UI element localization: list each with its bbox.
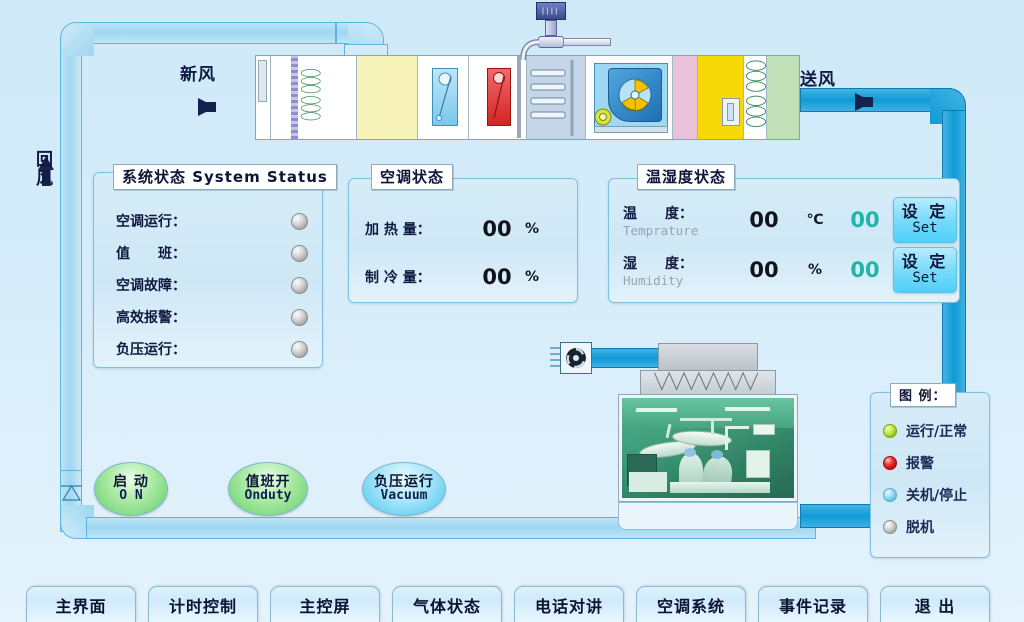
tab-3[interactable]: 主控屏	[270, 586, 380, 622]
control-valve-actuator[interactable]	[536, 2, 566, 20]
control-oval-label-cn: 启 动	[113, 475, 149, 490]
fresh-air-label: 新风	[180, 60, 216, 85]
supply-air-text: 送风	[800, 65, 836, 90]
temp-humidity-row: 温 度：Temprature00℃00设 定Set	[623, 195, 959, 245]
system-status-row: 空调故障：	[116, 269, 308, 301]
measured-value: 00	[735, 258, 793, 282]
system-status-row: 负压运行：	[116, 333, 308, 365]
heating-gauge-icon	[487, 68, 511, 126]
temp-humidity-sublabel: Humidity	[623, 273, 735, 288]
fan-inlet-vanes-icon	[548, 343, 562, 373]
ahu-inlet-damper	[256, 56, 271, 139]
valve-pipe-right	[563, 38, 611, 46]
bottom-tab-bar: 主界面计时控制主控屏气体状态电话对讲空调系统事件记录退 出	[0, 586, 1024, 622]
status-lamp	[291, 213, 308, 230]
tab-label: 退 出	[915, 593, 956, 617]
tab-5[interactable]: 电话对讲	[514, 586, 624, 622]
hepa-pleats-icon	[641, 371, 775, 395]
actuator-fins-icon	[537, 3, 565, 19]
ahu-humidifier	[527, 56, 586, 139]
tab-label: 电话对讲	[535, 593, 603, 617]
or-room-frame	[618, 394, 798, 502]
legend-label: 脱机	[906, 517, 934, 537]
hvac-status-row: 制 冷 量：00%	[365, 253, 577, 301]
or-camera-image	[622, 398, 794, 498]
tab-4[interactable]: 气体状态	[392, 586, 502, 622]
set-button-label-en: Set	[912, 271, 937, 286]
system-status-panel: 空调运行：值 班：空调故障：高效报警：负压运行：	[93, 172, 323, 368]
control-oval-label-en: O N	[119, 489, 142, 503]
return-duct-left-upper	[60, 40, 82, 480]
valve-body	[538, 36, 564, 48]
legend-panel: 运行/正常报警关机/停止脱机	[870, 392, 990, 558]
air-handling-unit	[255, 55, 800, 140]
hvac-status-unit: %	[525, 269, 539, 285]
legend-title: 图 例：	[890, 383, 956, 407]
legend-lamp	[883, 424, 897, 438]
legend-item: 报警	[883, 447, 989, 479]
legend-lamp	[883, 456, 897, 470]
ahu-pink-section	[673, 56, 698, 139]
ahu-cooling-coil	[418, 56, 469, 139]
ahu-yellow-section	[698, 56, 744, 139]
ahu-coil-section	[744, 56, 767, 139]
control-oval-label-cn: 负压运行	[374, 475, 434, 490]
hvac-status-unit: %	[525, 221, 539, 237]
system-status-label: 负压运行：	[116, 339, 291, 359]
temp-humidity-label: 温 度：	[623, 203, 735, 223]
control-oval-button[interactable]: 负压运行Vacuum	[362, 462, 446, 516]
measured-unit: ℃	[793, 212, 837, 228]
tab-label: 气体状态	[413, 593, 481, 617]
system-status-title: 系统状态 System Status	[113, 164, 337, 190]
return-damper-icon	[61, 478, 82, 502]
coil-spring-icon	[299, 58, 343, 138]
temp-humidity-label: 湿 度：	[623, 253, 735, 273]
status-lamp	[291, 309, 308, 326]
return-duct-corner-tl	[60, 22, 94, 56]
humidifier-pipes-icon	[527, 56, 589, 140]
legend-item: 脱机	[883, 511, 989, 543]
tab-2[interactable]: 计时控制	[148, 586, 258, 622]
fresh-air-arrow-icon	[198, 98, 216, 116]
temp-humidity-row: 湿 度：Humidity00%00设 定Set	[623, 245, 959, 295]
set-button-label-cn: 设 定	[902, 204, 949, 221]
legend-rows: 运行/正常报警关机/停止脱机	[871, 393, 989, 543]
supply-air-label: 送风	[800, 65, 836, 90]
tab-label: 计时控制	[169, 593, 237, 617]
motor-icon	[592, 106, 614, 128]
measured-value: 00	[735, 208, 793, 232]
temp-humidity-rows: 温 度：Temprature00℃00设 定Set湿 度：Humidity00%…	[609, 179, 959, 295]
return-duct-top	[78, 22, 336, 44]
ahu-heat-recovery	[357, 56, 418, 139]
tab-8[interactable]: 退 出	[880, 586, 990, 622]
or-lower-plenum	[618, 502, 798, 530]
system-status-label: 空调运行：	[116, 211, 291, 231]
status-lamp	[291, 341, 308, 358]
legend-lamp	[883, 488, 897, 502]
status-lamp	[291, 245, 308, 262]
hvac-status-row: 加 热 量：00%	[365, 205, 577, 253]
ahu-final-filter	[767, 56, 799, 139]
or-plenum-top	[658, 343, 758, 371]
fan-icon	[561, 343, 591, 373]
temp-humidity-title: 温湿度状态	[637, 164, 735, 190]
setpoint-value: 00	[837, 208, 893, 232]
system-status-row: 高效报警：	[116, 301, 308, 333]
legend-label: 运行/正常	[906, 421, 967, 441]
set-button[interactable]: 设 定Set	[893, 247, 957, 293]
status-lamp	[291, 277, 308, 294]
ahu-prefilter-coil	[271, 56, 357, 139]
legend-label: 关机/停止	[906, 485, 967, 505]
temp-humidity-sublabel: Temprature	[623, 223, 735, 238]
system-status-label: 值 班：	[116, 243, 291, 263]
hvac-status-label: 制 冷 量：	[365, 267, 469, 287]
legend-item: 关机/停止	[883, 479, 989, 511]
humidifier-riser	[517, 56, 521, 138]
hvac-status-title: 空调状态	[371, 164, 453, 190]
hvac-status-value: 00	[469, 265, 525, 289]
hvac-status-rows: 加 热 量：00%制 冷 量：00%	[349, 179, 577, 301]
cooling-gauge-icon	[432, 68, 458, 126]
system-status-label: 高效报警：	[116, 307, 291, 327]
fan-impeller-icon	[615, 75, 655, 115]
main-canvas: 新风 送风 回风	[0, 0, 1024, 622]
system-status-row: 值 班：	[116, 237, 308, 269]
control-oval-label-en: Onduty	[245, 489, 292, 503]
setpoint-value: 00	[837, 258, 893, 282]
hvac-status-panel: 加 热 量：00%制 冷 量：00%	[348, 178, 578, 303]
return-air-label: 回风	[30, 150, 50, 188]
hvac-status-value: 00	[469, 217, 525, 241]
tab-6[interactable]: 空调系统	[636, 586, 746, 622]
tab-1[interactable]: 主界面	[26, 586, 136, 622]
control-oval-button[interactable]: 启 动O N	[94, 462, 168, 516]
system-status-rows: 空调运行：值 班：空调故障：高效报警：负压运行：	[94, 173, 322, 365]
temp-humidity-panel: 温 度：Temprature00℃00设 定Set湿 度：Humidity00%…	[608, 178, 960, 303]
exhaust-fan-unit[interactable]	[560, 342, 592, 374]
measured-unit: %	[793, 262, 837, 278]
control-oval-label-en: Vacuum	[381, 489, 428, 503]
valve-stem	[545, 20, 557, 36]
legend-lamp	[883, 520, 897, 534]
or-hepa-plenum	[640, 370, 776, 396]
hvac-status-label: 加 热 量：	[365, 219, 469, 239]
tab-7[interactable]: 事件记录	[758, 586, 868, 622]
set-button-label-cn: 设 定	[902, 254, 949, 271]
temp-humidity-label-group: 湿 度：Humidity	[623, 253, 735, 288]
fresh-air-text: 新风	[180, 60, 216, 85]
control-oval-label-cn: 值班开	[246, 475, 291, 490]
set-button-label-en: Set	[912, 221, 937, 236]
legend-label: 报警	[906, 453, 934, 473]
ahu-fan-section	[586, 56, 674, 139]
control-oval-button[interactable]: 值班开Onduty	[228, 462, 308, 516]
tab-label: 主界面	[55, 593, 106, 617]
tab-label: 空调系统	[657, 593, 725, 617]
supply-air-arrow-icon	[855, 93, 873, 111]
tab-label: 主控屏	[299, 593, 350, 617]
temp-humidity-label-group: 温 度：Temprature	[623, 203, 735, 238]
system-status-label: 空调故障：	[116, 275, 291, 295]
tab-label: 事件记录	[779, 593, 847, 617]
set-button[interactable]: 设 定Set	[893, 197, 957, 243]
return-air-text: 回风	[30, 150, 55, 188]
coil-spring2-icon	[744, 58, 768, 138]
legend-item: 运行/正常	[883, 415, 989, 447]
system-status-row: 空调运行：	[116, 205, 308, 237]
